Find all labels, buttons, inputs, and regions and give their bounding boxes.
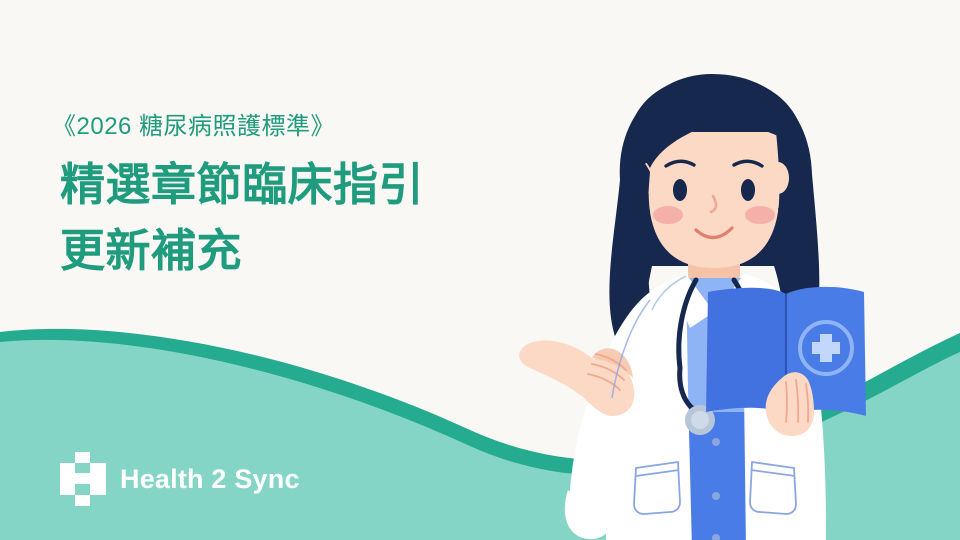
blush-right bbox=[745, 206, 775, 224]
health2sync-h-cross-mark bbox=[60, 452, 106, 506]
eye-right bbox=[741, 179, 755, 201]
title-block: 《2026 糖尿病照護標準》 精選章節臨床指引 更新補充 bbox=[52, 112, 522, 284]
hand-open-gesture bbox=[519, 341, 634, 416]
coat-button-3 bbox=[712, 492, 720, 500]
brand-logo: Health 2 Sync bbox=[60, 452, 300, 506]
eyebrow-text: 《2026 糖尿病照護標準》 bbox=[52, 112, 522, 142]
coat-button-2 bbox=[712, 438, 720, 446]
stethoscope-chestpiece-inner bbox=[691, 411, 709, 429]
title-line-2: 更新補充 bbox=[60, 218, 522, 284]
page-title: 精選章節臨床指引 更新補充 bbox=[52, 152, 522, 284]
logo-wordmark: Health 2 Sync bbox=[120, 466, 300, 493]
title-line-1: 精選章節臨床指引 bbox=[60, 152, 522, 218]
eye-left bbox=[673, 179, 687, 201]
doctor-illustration bbox=[500, 60, 960, 540]
presentation-slide: 《2026 糖尿病照護標準》 精選章節臨床指引 更新補充 bbox=[0, 0, 960, 540]
blush-left bbox=[653, 206, 683, 224]
